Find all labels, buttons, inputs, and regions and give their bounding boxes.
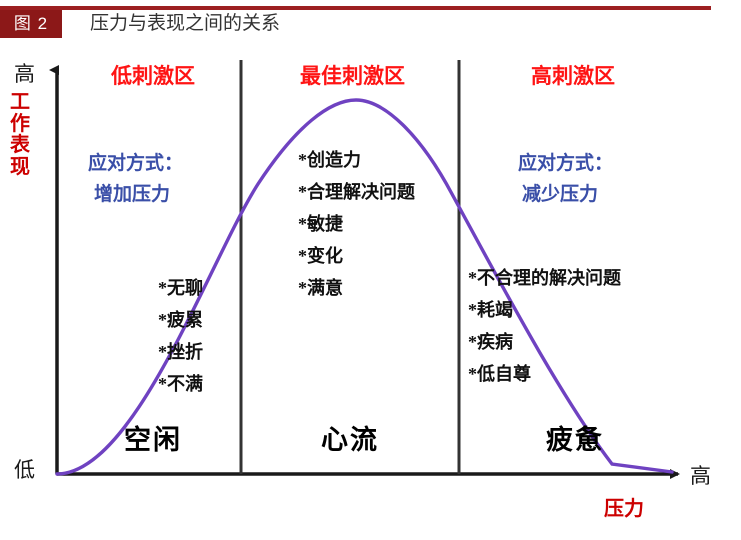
symptom-list-low-zone: *无聊 *疲累 *挫折 *不满 xyxy=(158,272,203,400)
list-item: *合理解决问题 xyxy=(298,176,415,208)
figure-badge: 图 2 xyxy=(0,10,62,38)
zone-header-optimal: 最佳刺激区 xyxy=(275,60,430,90)
y-axis-high-label: 高 xyxy=(14,58,35,88)
list-item: *创造力 xyxy=(298,144,415,176)
zone-state-burnout: 疲惫 xyxy=(505,418,645,457)
list-item: *不满 xyxy=(158,368,203,400)
list-item: *无聊 xyxy=(158,272,203,304)
list-item: *耗竭 xyxy=(468,294,621,326)
list-item: *疲累 xyxy=(158,304,203,336)
coping-strategy-high-zone: 应对方式： 减少压力 xyxy=(518,148,613,211)
coping-action-high: 减少压力 xyxy=(518,179,613,210)
coping-action-low: 增加压力 xyxy=(88,179,183,210)
coping-strategy-low-zone: 应对方式： 增加压力 xyxy=(88,148,183,211)
list-item: *变化 xyxy=(298,240,415,272)
list-item: *挫折 xyxy=(158,336,203,368)
y-axis-title: 工作表现 xyxy=(8,92,32,178)
chart-area: 高 低 高 工作表现 压力 低刺激区 最佳刺激区 高刺激区 应对方式： 增加压力… xyxy=(0,44,741,540)
zone-header-high: 高刺激区 xyxy=(508,60,638,90)
symptom-list-high-zone: *不合理的解决问题 *耗竭 *疾病 *低自尊 xyxy=(468,262,621,390)
list-item: *敏捷 xyxy=(298,208,415,240)
zone-header-low: 低刺激区 xyxy=(88,60,218,90)
page-title: 压力与表现之间的关系 xyxy=(90,10,280,38)
list-item: *疾病 xyxy=(468,326,621,358)
symptom-list-optimal-zone: *创造力 *合理解决问题 *敏捷 *变化 *满意 xyxy=(298,144,415,304)
coping-label-low: 应对方式： xyxy=(88,148,183,179)
list-item: *满意 xyxy=(298,272,415,304)
list-item: *低自尊 xyxy=(468,358,621,390)
y-axis-low-label: 低 xyxy=(14,454,35,484)
zone-state-idle: 空闲 xyxy=(88,418,218,457)
coping-label-high: 应对方式： xyxy=(518,148,613,179)
diagram-page: 图 2 压力与表现之间的关系 高 低 高 xyxy=(0,0,741,540)
x-axis-title: 压力 xyxy=(604,492,644,521)
zone-state-flow: 心流 xyxy=(280,418,420,457)
x-axis-high-label: 高 xyxy=(690,460,711,490)
list-item: *不合理的解决问题 xyxy=(468,262,621,294)
